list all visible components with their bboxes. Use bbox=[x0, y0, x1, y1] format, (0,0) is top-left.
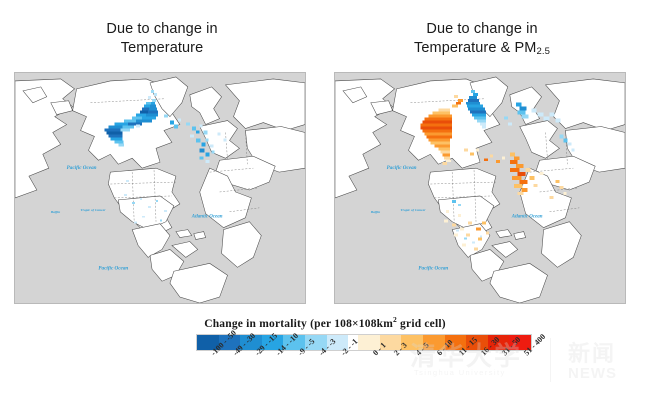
ocean-label-tropic: Tropic of Cancer bbox=[81, 208, 107, 212]
panel-title-temperature: Due to change in Temperature bbox=[12, 20, 312, 66]
legend-title-tail: grid cell) bbox=[397, 318, 446, 330]
panel-title-line2: Temperature bbox=[12, 39, 312, 58]
ocean-label-atlantic: Atlantic Ocean bbox=[511, 215, 543, 220]
ocean-label-pacific-south: Pacific Ocean bbox=[98, 265, 128, 271]
ocean-label-pacific-north: Pacific Ocean bbox=[387, 165, 417, 171]
colorbar-tick-labels: -100 - -50-49 - -30-29 - -15-14 - -10-9 … bbox=[196, 351, 530, 399]
map-panel-temperature: Due to change in Temperature bbox=[12, 20, 312, 312]
figure-root: Due to change in Temperature bbox=[0, 0, 650, 400]
ocean-label-tropic: Tropic of Cancer bbox=[401, 208, 427, 212]
panel-title-subscript: 2.5 bbox=[536, 46, 550, 57]
map-canvas-temperature-pm25: Pacific Ocean Baffin Tropic of Cancer At… bbox=[334, 72, 626, 304]
map-panel-temperature-pm25: Due to change in Temperature & PM2.5 bbox=[332, 20, 632, 312]
legend: Change in mortality (per 108×108km2 grid… bbox=[0, 312, 650, 400]
panel-title-line1: Due to change in bbox=[12, 20, 312, 39]
legend-title-main: Change in mortality (per 108×108km bbox=[204, 318, 393, 330]
panel-title-temperature-pm25: Due to change in Temperature & PM2.5 bbox=[332, 20, 632, 66]
ocean-label-atlantic: Atlantic Ocean bbox=[191, 215, 223, 220]
panel-title-line1: Due to change in bbox=[332, 20, 632, 39]
ocean-label-pacific-north: Pacific Ocean bbox=[67, 165, 97, 171]
map-canvas-temperature: Pacific Ocean Baffin Tropic of Cancer At… bbox=[14, 72, 306, 304]
ocean-label-baffin: Baffin bbox=[370, 210, 380, 214]
panel-title-line2: Temperature & PM2.5 bbox=[332, 39, 632, 58]
legend-title: Change in mortality (per 108×108km2 grid… bbox=[0, 315, 650, 330]
ocean-label-pacific-south: Pacific Ocean bbox=[418, 265, 448, 271]
ocean-label-baffin: Baffin bbox=[50, 210, 60, 214]
